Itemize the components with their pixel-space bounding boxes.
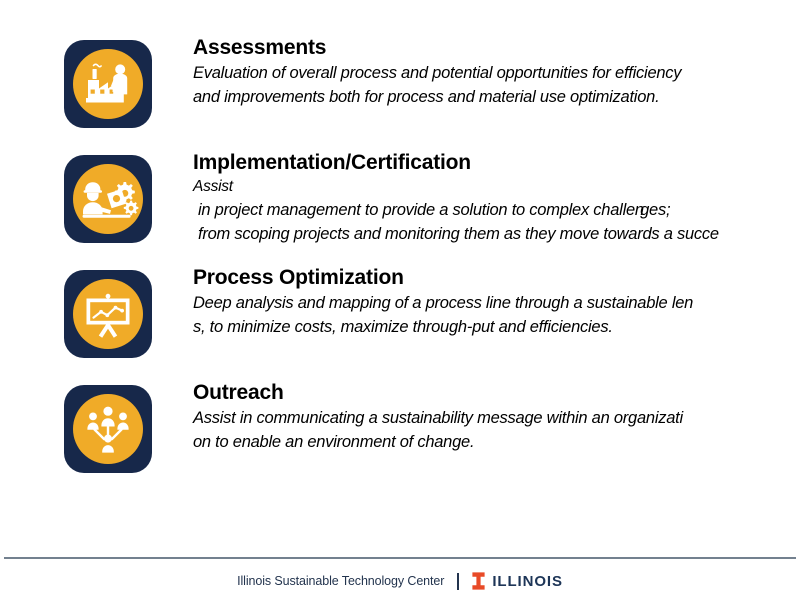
text-block-process-optimization: Process Optimization Deep analysis and m… — [193, 265, 800, 339]
people-network-icon — [73, 394, 143, 464]
icon-tile-outreach — [64, 385, 152, 473]
text-block-assessments: Assessments Evaluation of overall proces… — [193, 35, 800, 109]
footer-divider-rule — [4, 557, 796, 559]
body-line-clipped: from scoping projects and monitoring the… — [193, 222, 800, 246]
heading-implementation-certification: Implementation/Certification — [193, 150, 800, 176]
body-line-overlapped: in project management to provide a solut… — [193, 198, 800, 222]
icon-tile-assessments — [64, 40, 152, 128]
section-outreach: Outreach Assist in communicating a susta… — [0, 380, 800, 495]
text-block-implementation: Implementation/Certification Assist in p… — [193, 150, 800, 246]
section-assessments: Assessments Evaluation of overall proces… — [0, 35, 800, 150]
body-line-part-after: ges; — [640, 201, 670, 219]
body-line: and improvements both for process and ma… — [193, 85, 800, 109]
block-i-icon — [472, 572, 485, 590]
illinois-logo: ILLINOIS — [472, 572, 563, 590]
slide-footer: Illinois Sustainable Technology Center I… — [0, 566, 800, 596]
footer-center-text: Illinois Sustainable Technology Center — [237, 574, 444, 588]
icon-tile-process-optimization — [64, 270, 152, 358]
body-line: Assist in communicating a sustainability… — [193, 406, 800, 430]
engineer-laptop-gears-icon — [73, 164, 143, 234]
illinois-wordmark: ILLINOIS — [492, 573, 563, 590]
body-line: on to enable an environment of change. — [193, 430, 800, 454]
heading-process-optimization: Process Optimization — [193, 265, 800, 291]
heading-outreach: Outreach — [193, 380, 800, 406]
icon-tile-implementation — [64, 155, 152, 243]
body-line-part-before: in project management to provide a solut… — [198, 201, 635, 219]
slide-canvas: Assessments Evaluation of overall proces… — [0, 0, 800, 600]
presentation-chart-icon — [73, 279, 143, 349]
text-block-outreach: Outreach Assist in communicating a susta… — [193, 380, 800, 454]
body-line: Evaluation of overall process and potent… — [193, 61, 800, 85]
body-line: Assist — [193, 176, 800, 198]
section-process-optimization: Process Optimization Deep analysis and m… — [0, 265, 800, 380]
factory-worker-icon — [73, 49, 143, 119]
vertical-divider — [457, 573, 459, 590]
heading-assessments: Assessments — [193, 35, 800, 61]
section-implementation-certification: Implementation/Certification Assist in p… — [0, 150, 800, 265]
body-line: Deep analysis and mapping of a process l… — [193, 291, 800, 315]
body-line: s, to minimize costs, maximize through-p… — [193, 315, 800, 339]
